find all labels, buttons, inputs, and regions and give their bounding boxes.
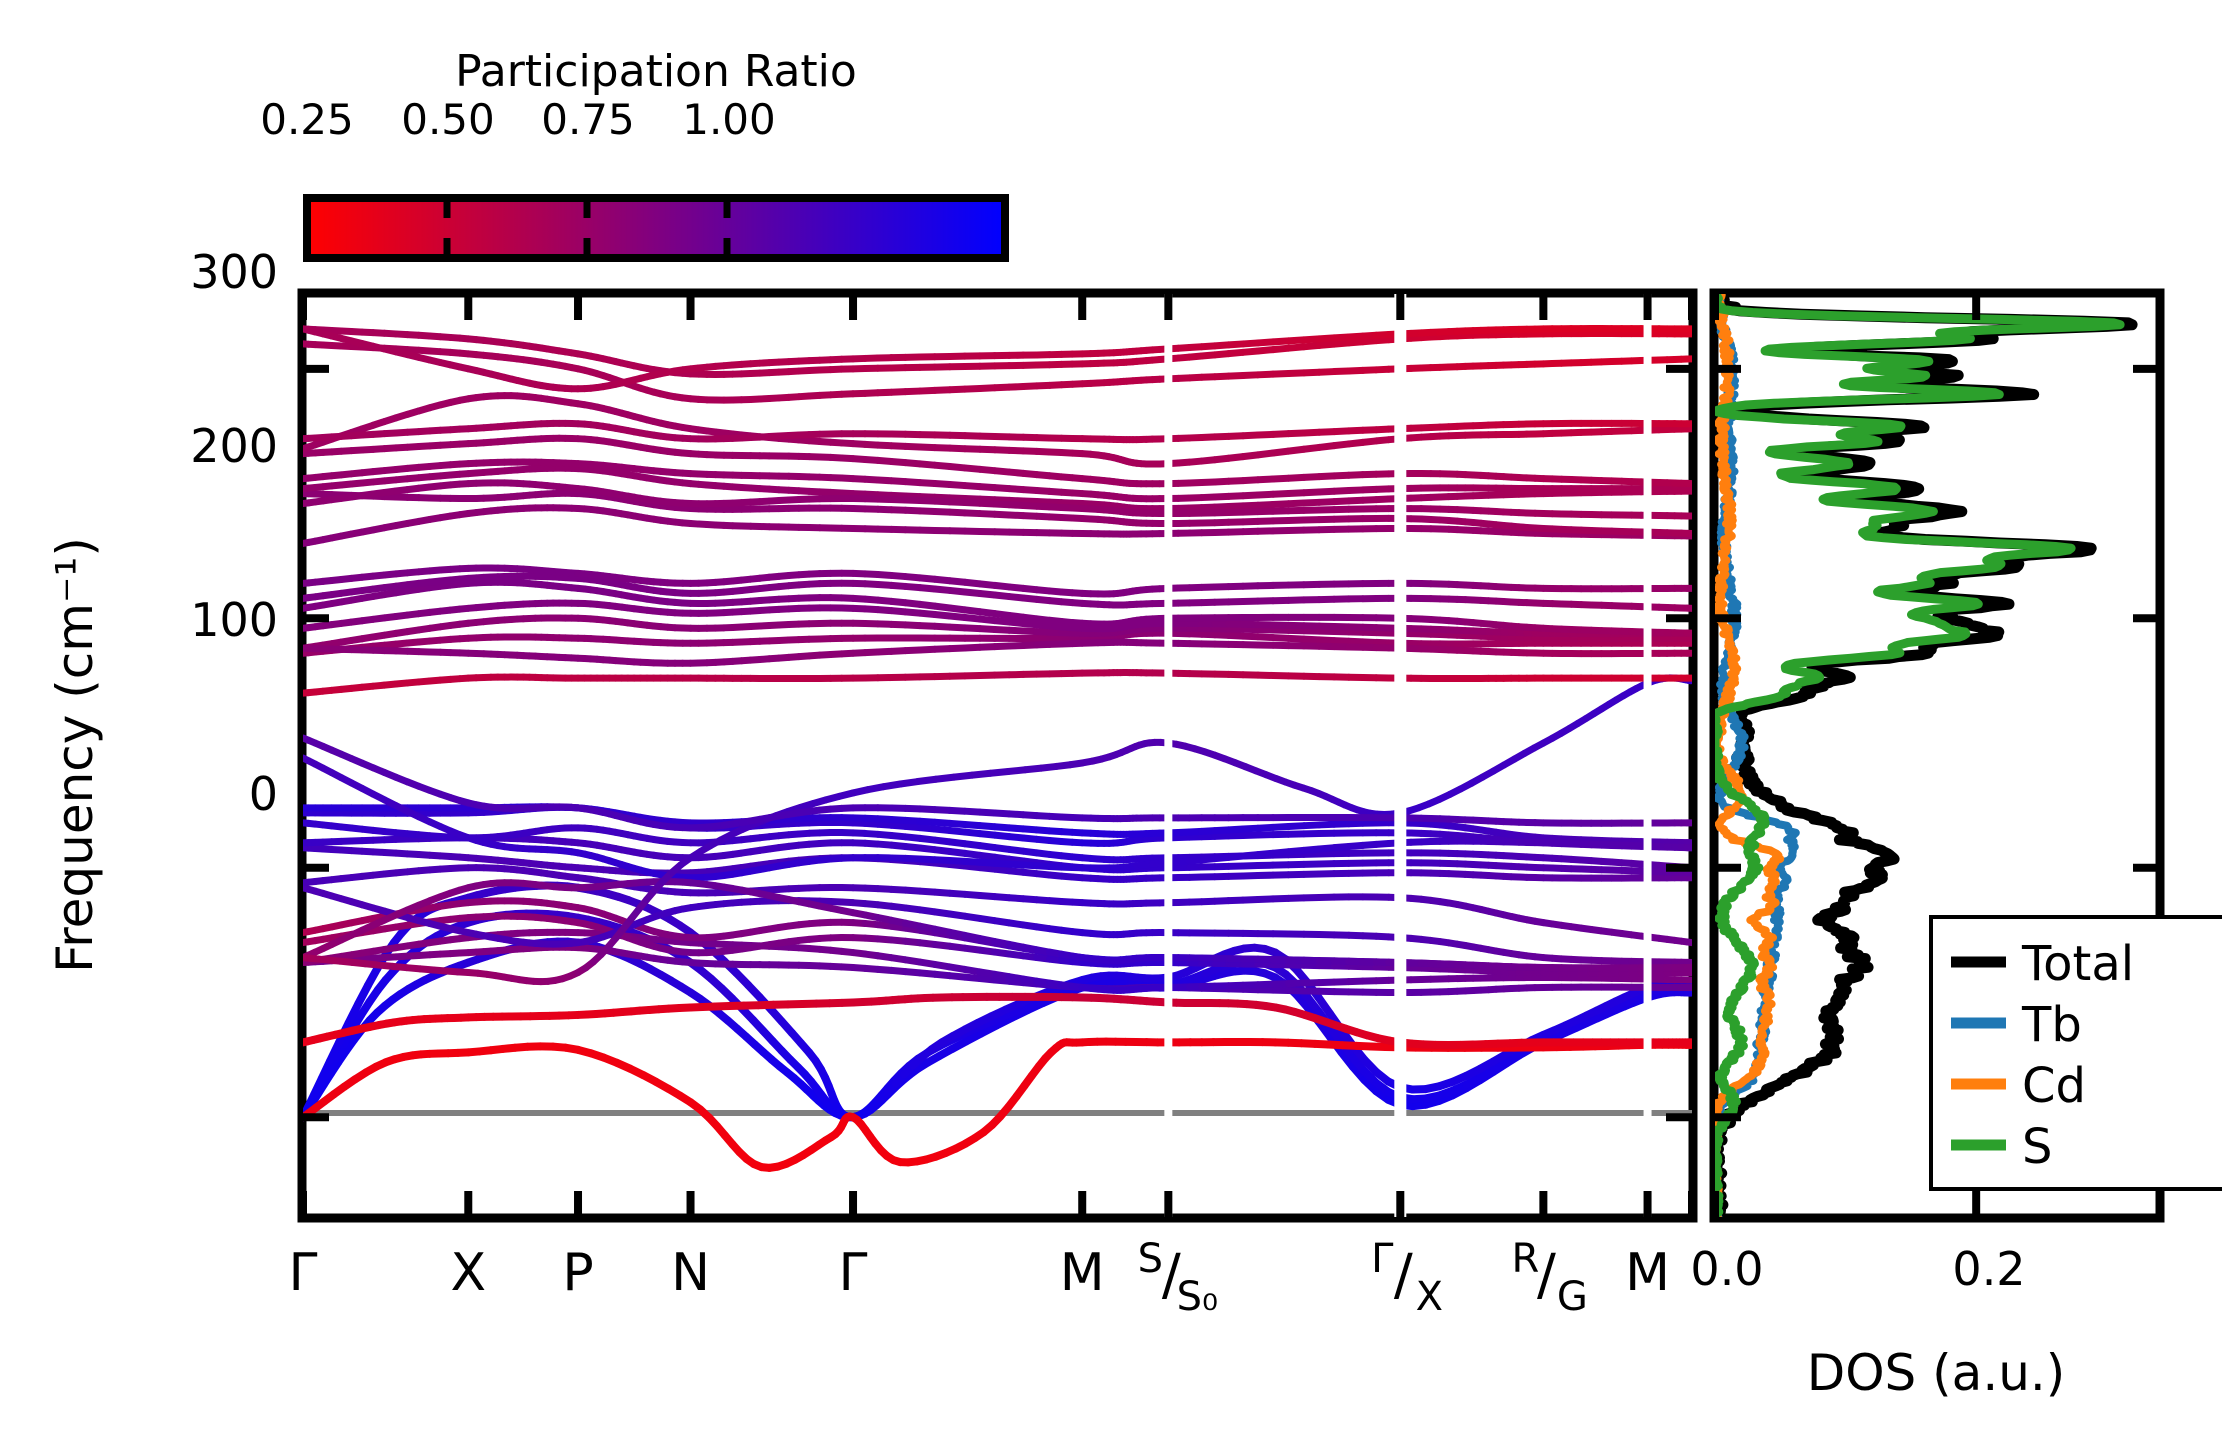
colorbar-tick-1: 0.50 — [401, 95, 495, 144]
phonon-figure: Participation Ratio 0.25 0.50 0.75 1.00 … — [0, 0, 2222, 1455]
y-tick-100: 100 — [190, 593, 278, 647]
dos-x-axis-label: DOS (a.u.) — [1807, 1344, 2066, 1402]
colorbar-gradient — [307, 198, 1005, 258]
y-tick-0: 0 — [249, 767, 278, 821]
x-tick-label-3: N — [671, 1243, 710, 1303]
dos-tick-0: 0.0 — [1690, 1242, 1763, 1296]
x-tick-label-5: M — [1060, 1243, 1105, 1303]
colorbar-title: Participation Ratio — [455, 46, 857, 97]
x-tick-label-2: P — [562, 1243, 593, 1303]
figure-root: Participation Ratio 0.25 0.50 0.75 1.00 … — [0, 0, 2222, 1455]
legend-label-tb: Tb — [2021, 997, 2082, 1053]
band-structure-panel: ΓXPNΓMS/S₀Γ/XR/GM — [289, 293, 1693, 1320]
x-tick-label-0: Γ — [289, 1243, 318, 1303]
x-tick-label-1: X — [450, 1243, 486, 1303]
colorbar-tick-0: 0.25 — [260, 95, 354, 144]
legend-label-cd: Cd — [2022, 1058, 2086, 1114]
y-axis-label: Frequency (cm⁻¹) — [46, 537, 104, 973]
dos-tick-1: 0.2 — [1952, 1242, 2025, 1296]
y-tick-200: 200 — [190, 419, 278, 473]
dos-legend[interactable]: Total Tb Cd S — [1931, 917, 2222, 1189]
y-tick-300: 300 — [190, 245, 278, 299]
legend-label-total: Total — [2021, 936, 2134, 992]
colorbar-tick-2: 0.75 — [541, 95, 635, 144]
x-tick-label-4: Γ — [839, 1243, 868, 1303]
legend-label-s: S — [2022, 1119, 2052, 1175]
colorbar-tick-3: 1.00 — [682, 95, 776, 144]
x-tick-label-9: M — [1625, 1243, 1670, 1303]
